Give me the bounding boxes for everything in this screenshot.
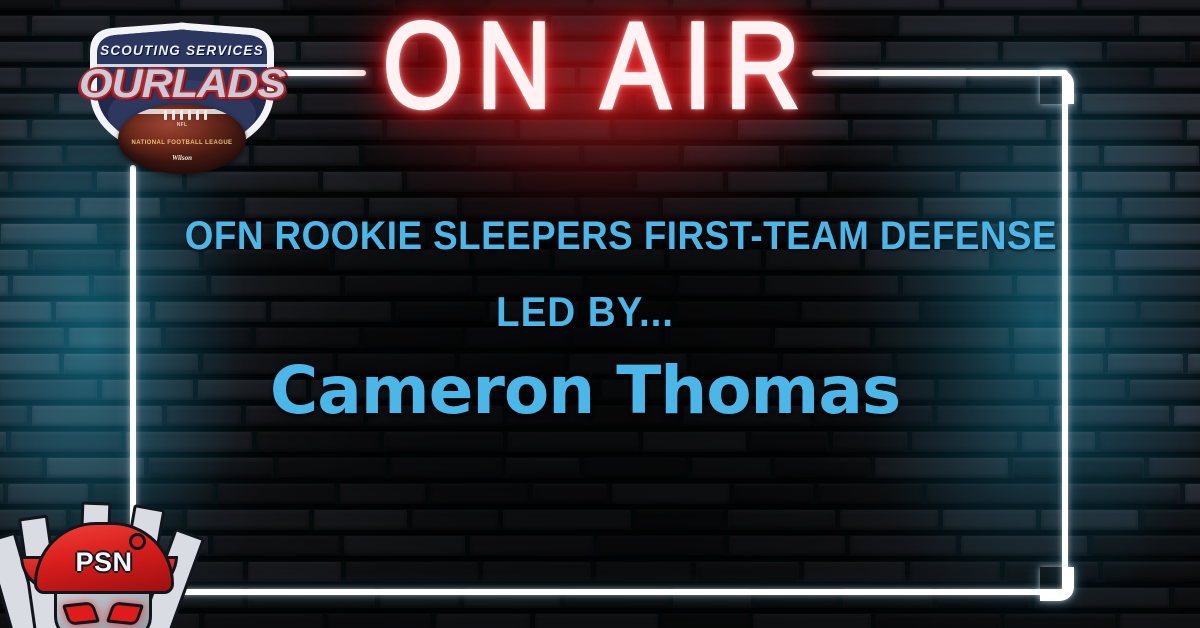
football-laces bbox=[164, 110, 204, 120]
football-icon: NFL NATIONAL FOOTBALL LEAGUE Wilson bbox=[118, 104, 246, 174]
mascot-cap-logo-text: PSN bbox=[37, 547, 171, 578]
frame-corner-top-right bbox=[1040, 70, 1074, 104]
logo-tagline: SCOUTING SERVICES bbox=[82, 43, 282, 58]
psn-mascot: PSN bbox=[0, 500, 207, 628]
on-air-neon-sign: ON AIR bbox=[378, 0, 818, 137]
on-air-graphic-card: ON AIR SCOUTING SERVICES OURLADS NFL NAT… bbox=[0, 0, 1200, 628]
logo-wordmark: OURLADS bbox=[74, 62, 290, 107]
ourlads-logo[interactable]: SCOUTING SERVICES OURLADS NFL NATIONAL F… bbox=[82, 18, 282, 166]
page-title: OFN ROOKIE SLEEPERS FIRST-TEAM DEFENSE bbox=[185, 214, 985, 259]
frame-line-right bbox=[1062, 70, 1068, 595]
football-nfl-mark: NFL bbox=[118, 122, 246, 128]
frame-line-bottom bbox=[133, 589, 1068, 595]
football-league-text: NATIONAL FOOTBALL LEAGUE bbox=[118, 140, 246, 146]
mascot-eye-right bbox=[106, 601, 144, 625]
mascot-eye-left bbox=[62, 601, 100, 625]
frame-corner-bottom-right bbox=[1040, 567, 1074, 601]
frame-line-top-right bbox=[812, 70, 1068, 76]
featured-player-name: Cameron Thomas bbox=[150, 352, 1020, 429]
page-subtitle: LED BY... bbox=[185, 288, 985, 336]
football-brand-text: Wilson bbox=[118, 154, 246, 162]
